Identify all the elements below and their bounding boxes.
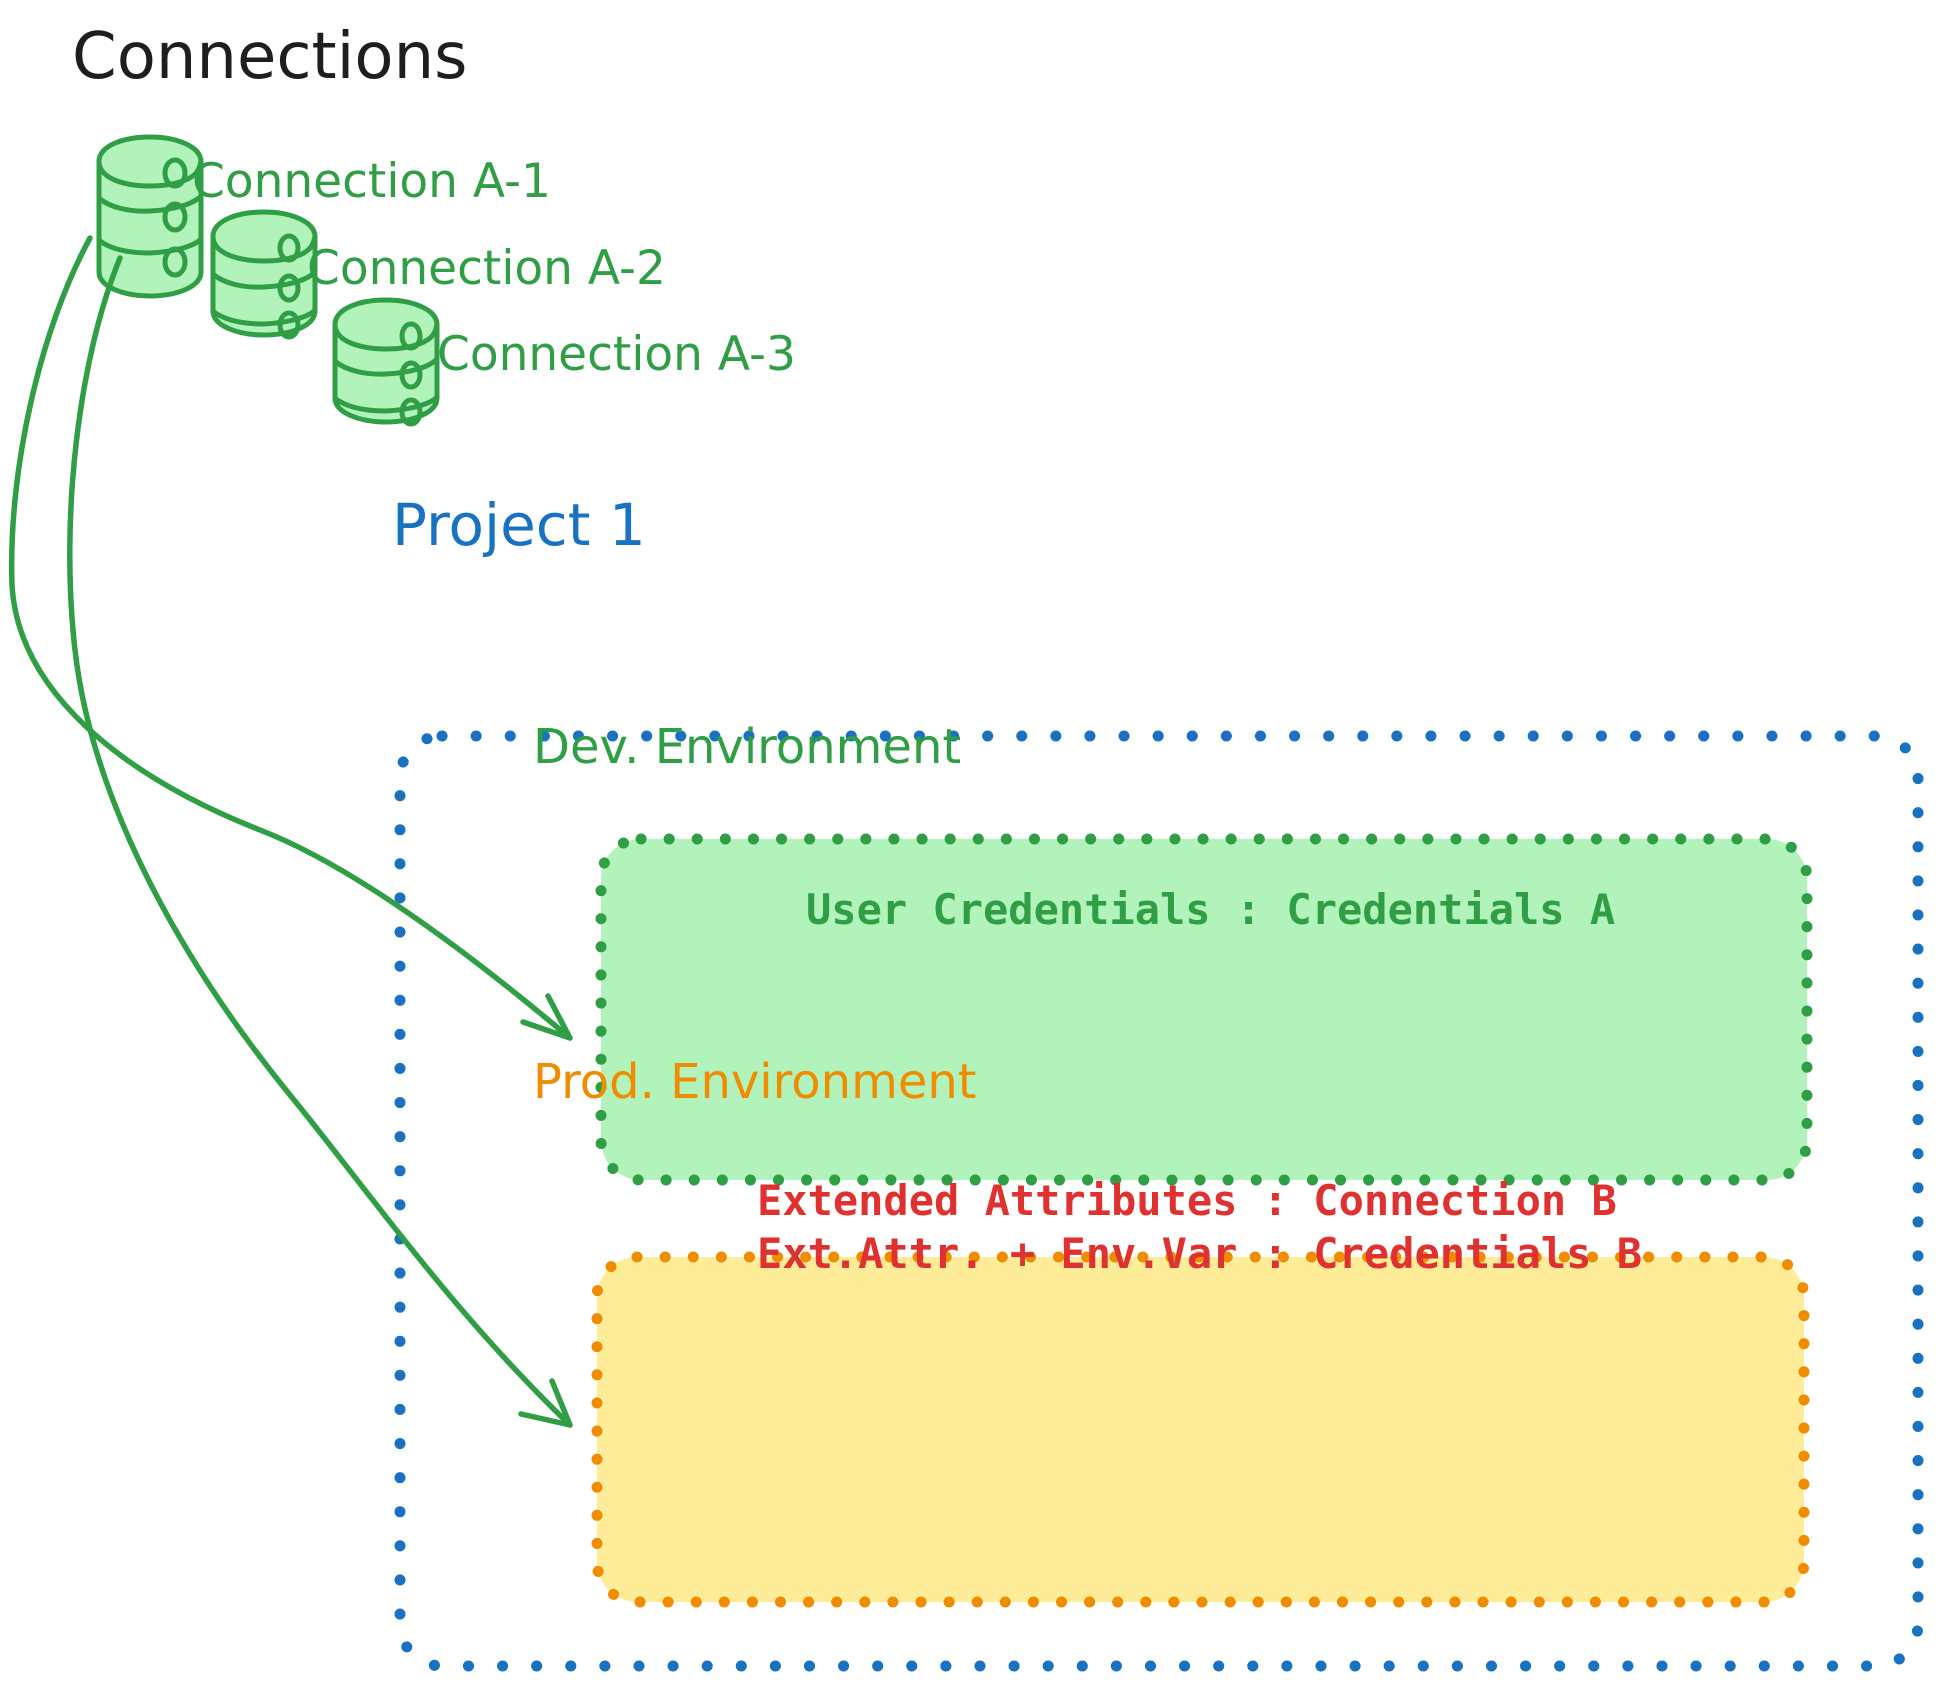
connection-a-3-label: Connection A-3	[437, 327, 796, 382]
dev-environment-title: Dev. Environment	[533, 719, 961, 775]
prod-environment-line-1: Extended Attributes : Connection B	[757, 1176, 1617, 1225]
page-title: Connections	[72, 20, 467, 94]
dev-environment-line-1: User Credentials : Credentials A	[806, 885, 1615, 934]
project-title: Project 1	[392, 491, 646, 559]
connection-a-1-label: Connection A-1	[192, 154, 551, 209]
prod-environment-fill	[597, 1257, 1804, 1602]
database-icon-connection-a-3[interactable]	[335, 300, 437, 424]
arrow-conn-a1-to-prod	[70, 258, 570, 1425]
prod-environment-box[interactable]	[597, 1257, 1804, 1602]
database-icon-connection-a-2[interactable]	[213, 212, 315, 337]
connection-a-2-label: Connection A-2	[307, 241, 666, 296]
diagram-svg: Connections Connection A-1 Connection A-…	[0, 0, 1938, 1691]
diagram-canvas: Connections Connection A-1 Connection A-…	[0, 0, 1938, 1691]
prod-environment-line-2: Ext.Attr. + Env.Var : Credentials B	[757, 1229, 1642, 1278]
prod-environment-title: Prod. Environment	[533, 1054, 977, 1110]
